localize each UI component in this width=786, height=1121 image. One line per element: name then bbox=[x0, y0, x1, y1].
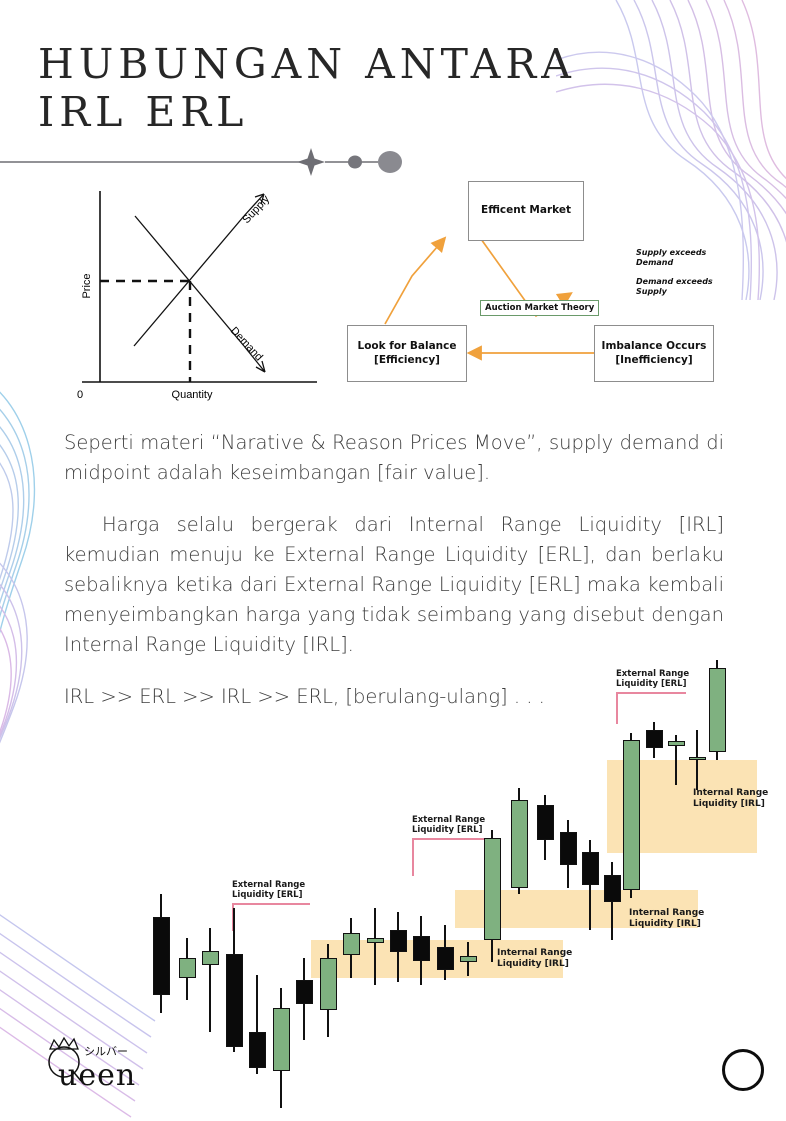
logo-wordmark: ueen bbox=[58, 1058, 136, 1093]
note-supply-exceeds-demand: Supply exceeds Demand bbox=[636, 248, 706, 269]
candle-body-down bbox=[296, 980, 313, 1004]
candle-wick bbox=[209, 928, 211, 1032]
candle-body-down bbox=[390, 930, 407, 952]
candle-body-up bbox=[202, 951, 219, 965]
candle-body-down bbox=[646, 730, 663, 748]
arrow-balance-to-efficient bbox=[385, 239, 444, 324]
candle-body-down bbox=[226, 954, 243, 1047]
brand-logo: シルバー ueen bbox=[28, 1031, 178, 1093]
title-divider bbox=[0, 148, 420, 176]
candle-body-up bbox=[460, 956, 477, 962]
candle-body-down bbox=[582, 852, 599, 885]
logo-katakana: シルバー bbox=[84, 1045, 128, 1058]
candle-wick bbox=[374, 908, 376, 985]
page-title-line1: HUBUNGAN ANTARA bbox=[38, 40, 598, 88]
erl-label-line1: External Range bbox=[616, 669, 689, 679]
candle-body-up bbox=[668, 741, 685, 746]
note-demand-exceeds-supply: Demand exceeds Supply bbox=[636, 277, 713, 298]
box-imbalance-occurs: Imbalance Occurs [Inefficiency] bbox=[594, 325, 714, 382]
box-efficient-market-label: Efficent Market bbox=[481, 204, 571, 217]
candle-body-up bbox=[623, 740, 640, 890]
erl-label: External RangeLiquidity [ERL] bbox=[616, 669, 689, 689]
candle-body-down bbox=[560, 832, 577, 865]
box-balance-line2: [Efficiency] bbox=[374, 354, 440, 367]
erl-marker-stem bbox=[616, 692, 618, 724]
box-imbalance-line1: Imbalance Occurs bbox=[602, 340, 707, 353]
erl-label: External RangeLiquidity [ERL] bbox=[232, 880, 305, 900]
page-marker-circle bbox=[722, 1049, 764, 1091]
candle-body-up bbox=[367, 938, 384, 943]
divider-dot-small bbox=[348, 156, 362, 169]
candle-body-down bbox=[537, 805, 554, 840]
auction-market-theory-diagram: Efficent Market Imbalance Occurs [Ineffi… bbox=[340, 176, 740, 401]
irl-label-line2: Liquidity [IRL] bbox=[629, 919, 704, 930]
box-balance-line1: Look for Balance bbox=[358, 340, 457, 353]
irl-label-line2: Liquidity [IRL] bbox=[497, 959, 572, 970]
page-title-line2: IRL ERL bbox=[38, 88, 598, 136]
candle-body-up bbox=[343, 933, 360, 955]
divider-dot-large bbox=[378, 151, 402, 173]
irl-label: Internal RangeLiquidity [IRL] bbox=[497, 948, 572, 970]
box-look-for-balance: Look for Balance [Efficiency] bbox=[347, 325, 467, 382]
candle-body-up bbox=[709, 668, 726, 752]
candle-body-down bbox=[413, 936, 430, 961]
irl-label: Internal RangeLiquidity [IRL] bbox=[693, 788, 768, 810]
irl-label-line1: Internal Range bbox=[693, 788, 768, 799]
sd-demand-label: Demand bbox=[228, 325, 265, 364]
sd-x-axis-label: Quantity bbox=[172, 389, 213, 401]
candle-body-up bbox=[320, 958, 337, 1010]
paragraph-2: Harga selalu bergerak dari Internal Rang… bbox=[64, 510, 724, 660]
candle-body-down bbox=[604, 875, 621, 902]
erl-marker-line bbox=[232, 903, 310, 905]
paragraph-1: Seperti materi “Narative & Reason Prices… bbox=[64, 428, 724, 488]
erl-marker-line bbox=[616, 692, 686, 694]
erl-label-line2: Liquidity [ERL] bbox=[412, 825, 485, 835]
supply-demand-chart: Price Quantity 0 Supply Demand bbox=[72, 186, 322, 401]
sd-origin-label: 0 bbox=[77, 389, 83, 401]
candle-body-down bbox=[249, 1032, 266, 1068]
page-title: HUBUNGAN ANTARA IRL ERL bbox=[38, 40, 598, 136]
irl-label: Internal RangeLiquidity [IRL] bbox=[629, 908, 704, 930]
sd-supply-label: Supply bbox=[240, 193, 272, 226]
box-imbalance-line2: [Inefficiency] bbox=[615, 354, 692, 367]
box-efficient-market: Efficent Market bbox=[468, 181, 584, 241]
irl-label-line1: Internal Range bbox=[629, 908, 704, 919]
erl-marker-line bbox=[412, 838, 490, 840]
candle-body-down bbox=[153, 917, 170, 995]
candle-body-up bbox=[511, 800, 528, 888]
sd-y-axis-label: Price bbox=[81, 273, 93, 298]
candle-body-up bbox=[179, 958, 196, 978]
candle-body-up bbox=[689, 757, 706, 760]
auction-market-theory-label: Auction Market Theory bbox=[480, 300, 599, 316]
candle-body-up bbox=[273, 1008, 290, 1071]
sparkle-icon bbox=[297, 148, 325, 176]
erl-label-line1: External Range bbox=[232, 880, 305, 890]
erl-marker-stem bbox=[412, 838, 414, 876]
erl-label: External RangeLiquidity [ERL] bbox=[412, 815, 485, 835]
erl-label-line2: Liquidity [ERL] bbox=[232, 890, 305, 900]
irl-label-line2: Liquidity [IRL] bbox=[693, 799, 768, 810]
auction-center-label-text: Auction Market Theory bbox=[485, 303, 594, 313]
irl-label-line1: Internal Range bbox=[497, 948, 572, 959]
candle-wick bbox=[696, 730, 698, 790]
erl-label-line1: External Range bbox=[412, 815, 485, 825]
erl-label-line2: Liquidity [ERL] bbox=[616, 679, 689, 689]
candle-body-up bbox=[484, 838, 501, 940]
candle-body-down bbox=[437, 947, 454, 970]
